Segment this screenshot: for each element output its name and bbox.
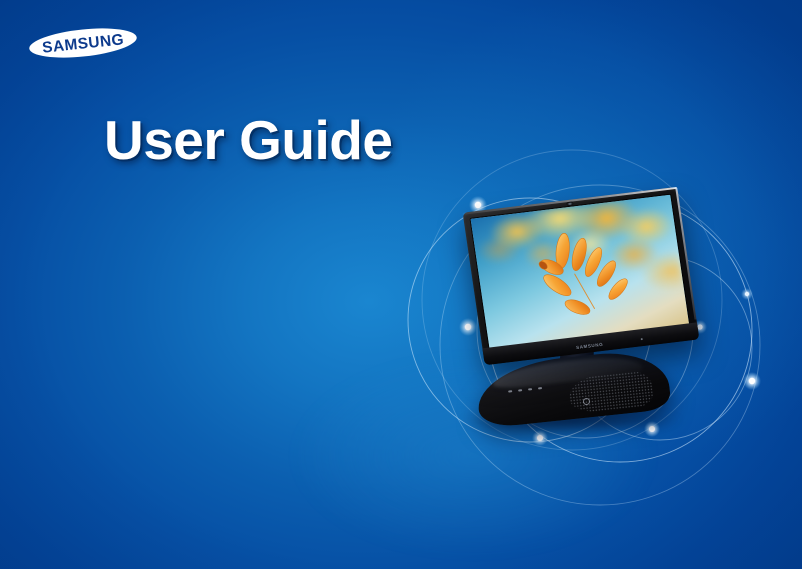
page-title: User Guide xyxy=(104,112,392,170)
monitor-product-image: SAMSUNG xyxy=(455,185,715,435)
monitor-panel: SAMSUNG xyxy=(463,187,700,365)
samsung-logo-icon: SAMSUNG xyxy=(28,26,138,60)
user-guide-cover: SAMSUNG User Guide xyxy=(0,0,802,569)
power-button[interactable] xyxy=(582,398,590,406)
monitor-screen xyxy=(471,195,690,349)
touch-button[interactable] xyxy=(518,389,522,391)
touch-button[interactable] xyxy=(508,390,512,392)
touch-button[interactable] xyxy=(528,388,532,390)
power-led-icon xyxy=(640,338,642,340)
bezel-wordmark: SAMSUNG xyxy=(576,342,604,350)
touch-button[interactable] xyxy=(538,387,542,389)
samsung-logo: SAMSUNG xyxy=(28,26,138,60)
monitor-stand-base xyxy=(477,357,669,419)
wallpaper-leaves xyxy=(471,195,688,340)
